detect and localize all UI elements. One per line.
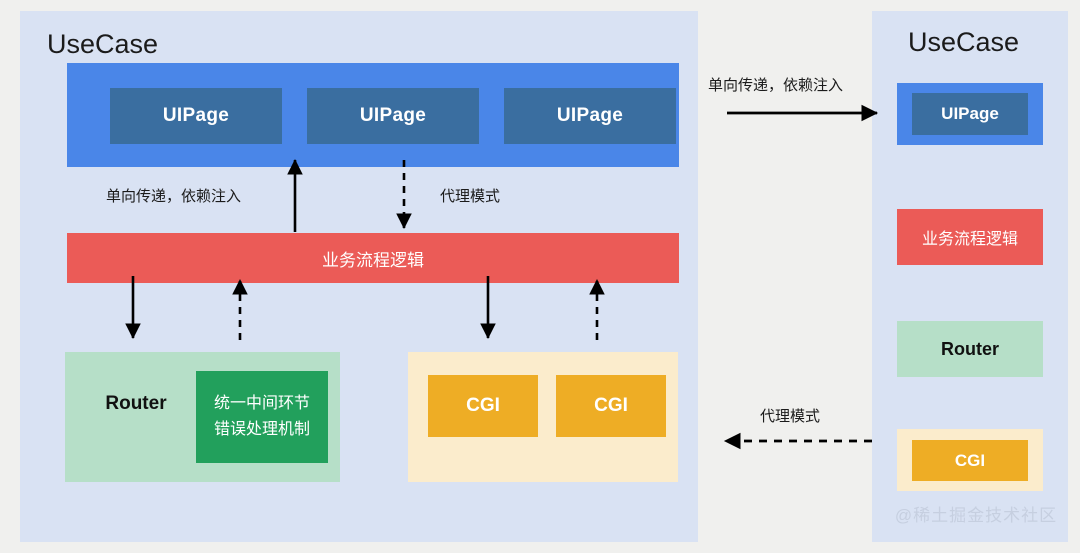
diagram-canvas: UseCase UIPage UIPage UIPage 业务流程逻辑 Rout… bbox=[0, 0, 1080, 553]
uipage-container: UIPage UIPage UIPage bbox=[67, 63, 679, 167]
error-handling-box[interactable]: 统一中间环节 错误处理机制 bbox=[196, 371, 328, 463]
left-panel-title: UseCase bbox=[47, 29, 158, 60]
right-legend-panel: UseCase UIPage 业务流程逻辑 Router CGI @稀土掘金技术… bbox=[872, 11, 1068, 542]
uipage-box-1[interactable]: UIPage bbox=[110, 88, 282, 144]
cgi-container: CGI CGI bbox=[408, 352, 678, 482]
cgi-box-1[interactable]: CGI bbox=[428, 375, 538, 437]
legend-router[interactable]: Router bbox=[897, 321, 1043, 377]
label-cross-proxy-pattern: 代理模式 bbox=[760, 405, 820, 426]
router-container: Router 统一中间环节 错误处理机制 bbox=[65, 352, 340, 482]
left-usecase-panel: UseCase UIPage UIPage UIPage 业务流程逻辑 Rout… bbox=[20, 11, 698, 542]
business-logic-bar[interactable]: 业务流程逻辑 bbox=[67, 233, 679, 283]
label-inner-proxy-pattern: 代理模式 bbox=[440, 185, 500, 206]
label-inner-dependency-injection: 单向传递，依赖注入 bbox=[106, 185, 241, 206]
watermark: @稀土掘金技术社区 bbox=[886, 501, 1066, 526]
error-handling-line-1: 统一中间环节 bbox=[214, 391, 310, 417]
uipage-box-3[interactable]: UIPage bbox=[504, 88, 676, 144]
error-handling-line-2: 错误处理机制 bbox=[214, 417, 310, 443]
cgi-box-2[interactable]: CGI bbox=[556, 375, 666, 437]
legend-cgi-outer: CGI bbox=[897, 429, 1043, 491]
legend-uipage-outer: UIPage bbox=[897, 83, 1043, 145]
uipage-box-2[interactable]: UIPage bbox=[307, 88, 479, 144]
right-panel-title: UseCase bbox=[908, 27, 1019, 58]
router-label: Router bbox=[88, 389, 184, 419]
legend-uipage[interactable]: UIPage bbox=[912, 93, 1028, 135]
legend-business-logic[interactable]: 业务流程逻辑 bbox=[897, 209, 1043, 265]
label-cross-dependency-injection: 单向传递，依赖注入 bbox=[708, 74, 843, 95]
legend-cgi[interactable]: CGI bbox=[912, 440, 1028, 481]
